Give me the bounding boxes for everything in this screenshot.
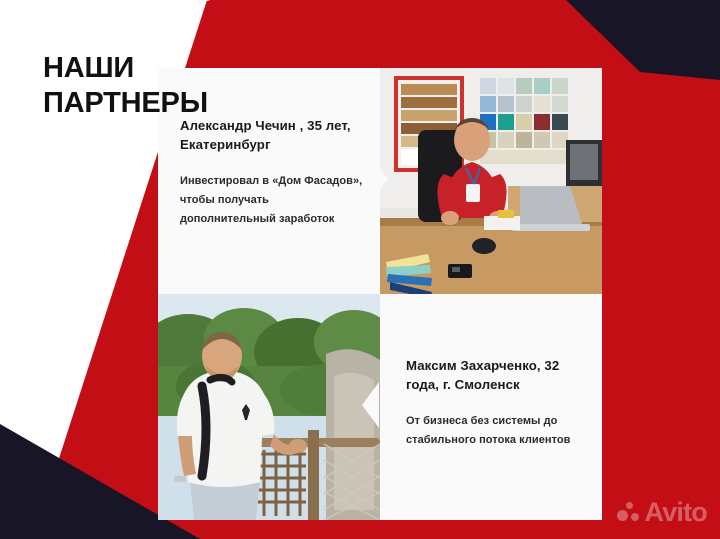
partner-card-2-description: От бизнеса без системы до стабильного по… — [406, 412, 588, 450]
partner-card-1-description: Инвестировал в «Дом Фасадов», чтобы полу… — [180, 172, 366, 229]
partner-1-photo — [380, 68, 602, 294]
slide-canvas: НАШИ ПАРТНЕРЫ Александр Чечин , 35 лет, … — [0, 0, 720, 539]
partner-card-2-name: Максим Захарченко, 32 года, г. Смоленск — [406, 356, 588, 394]
partner-2-photo — [158, 294, 380, 520]
chevron-left-icon — [362, 382, 379, 428]
partner-card-2-body: Максим Захарченко, 32 года, г. Смоленск … — [406, 356, 588, 450]
partner-2-photo-illustration — [158, 294, 380, 520]
page-title: НАШИ ПАРТНЕРЫ — [43, 51, 208, 119]
partner-1-photo-illustration — [380, 68, 602, 294]
partner-card-2: Максим Захарченко, 32 года, г. Смоленск … — [380, 294, 602, 520]
partners-grid: Александр Чечин , 35 лет, Екатеринбург И… — [158, 68, 602, 520]
partner-card-1-body: Александр Чечин , 35 лет, Екатеринбург И… — [180, 116, 366, 229]
chevron-right-icon — [371, 156, 388, 202]
partner-card-1-name: Александр Чечин , 35 лет, Екатеринбург — [180, 116, 366, 154]
